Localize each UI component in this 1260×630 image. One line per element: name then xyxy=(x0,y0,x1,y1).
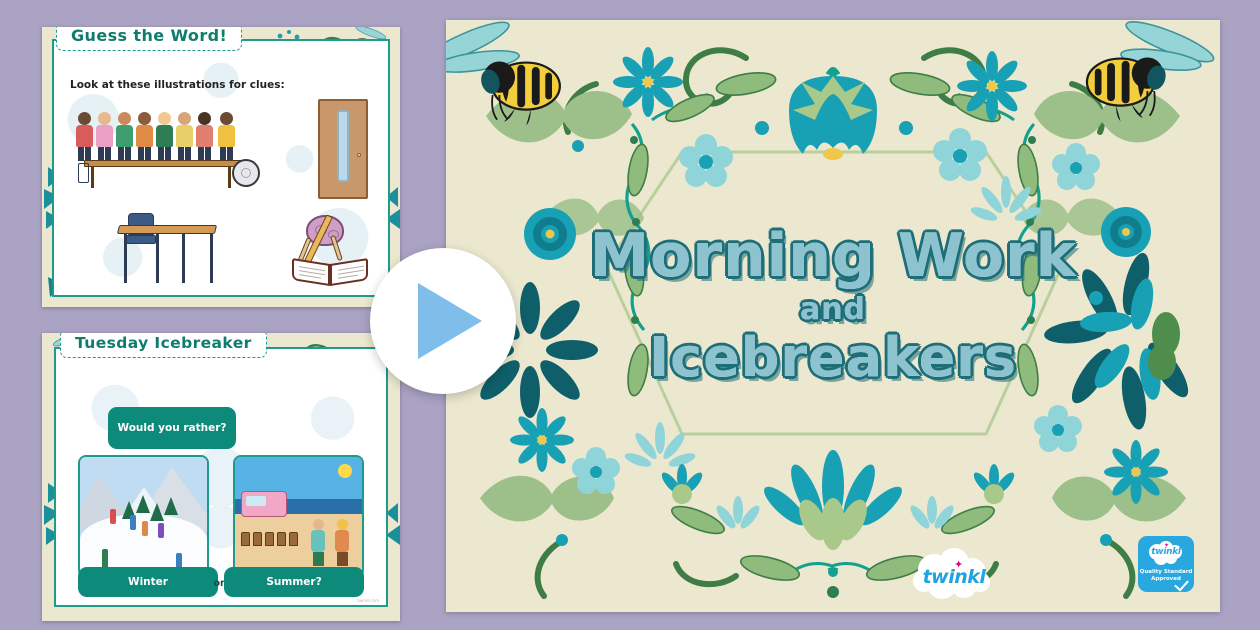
thumb-1-slide-body: Look at these illustrations for clues: xyxy=(52,39,390,297)
thumb-1-subtitle: Look at these illustrations for clues: xyxy=(70,79,285,91)
slide-floral-decoration xyxy=(446,20,1220,612)
twinkl-wordmark: twinkl xyxy=(908,566,1000,588)
illustration-school-desk xyxy=(112,211,217,281)
quality-standard-badge: ✦ twinkl Quality Standard Approved xyxy=(1138,536,1194,592)
thumbnail-tuesday-icebreaker[interactable]: Would you rather? xyxy=(42,333,400,621)
option-button-summer[interactable]: Summer? xyxy=(224,567,364,597)
thumb-1-title-banner: Guess the Word! xyxy=(56,27,242,51)
thumbnail-guess-the-word[interactable]: Look at these illustrations for clues: G… xyxy=(42,27,400,307)
thumb-2-watermark: twinkl.com xyxy=(357,598,379,603)
option-button-winter[interactable]: Winter xyxy=(78,567,218,597)
play-triangle-icon xyxy=(418,283,482,359)
image-winter-scene[interactable] xyxy=(78,455,209,578)
illustration-brain-with-pencil xyxy=(290,213,374,283)
illustration-classroom-door xyxy=(318,99,368,199)
badge-wordmark: twinkl xyxy=(1138,547,1194,557)
open-book-icon xyxy=(292,259,368,283)
badge-line-1: Quality Standard xyxy=(1138,569,1194,575)
twinkl-logo: ✦ twinkl xyxy=(908,548,1000,604)
thumb-2-title-banner: Tuesday Icebreaker xyxy=(60,333,267,358)
play-button[interactable] xyxy=(370,248,516,394)
slide-thumbnail-list: Look at these illustrations for clues: G… xyxy=(42,20,422,612)
would-you-rather-prompt: Would you rather? xyxy=(108,407,236,449)
wheelchair-icon xyxy=(232,159,260,187)
sun-icon xyxy=(338,464,352,478)
thumb-2-slide-body: Would you rather? xyxy=(54,347,388,607)
main-slide-preview[interactable]: Morning Work and Icebreakers ✦ twinkl ✦ … xyxy=(446,20,1220,612)
image-summer-scene[interactable] xyxy=(233,455,364,578)
camper-van-icon xyxy=(241,491,287,517)
illustration-children-at-table xyxy=(76,103,256,181)
